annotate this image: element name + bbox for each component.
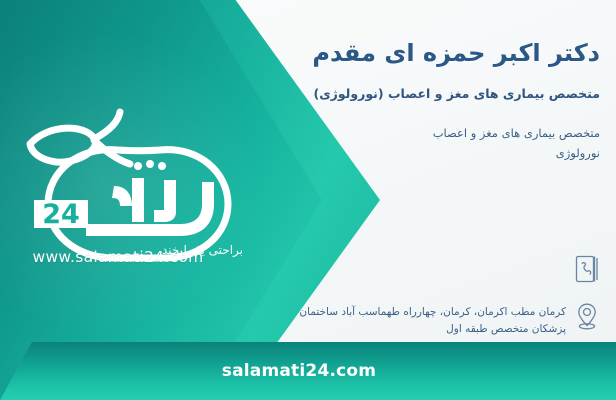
svg-text:24: 24 bbox=[42, 199, 80, 230]
logo-website-url: www.salamati24.com bbox=[28, 248, 208, 266]
footer-bar: salamati24.com bbox=[0, 342, 616, 400]
card-content: دکتر اکبر حمزه ای مقدم متخصص بیماری های … bbox=[196, 0, 600, 400]
doctor-specialty-lines: متخصص بیماری های مغز و اعصاب نورولوژی bbox=[196, 123, 600, 163]
specialty-line-1: متخصص بیماری های مغز و اعصاب bbox=[208, 123, 600, 143]
business-card: 24 براحتی یک لبخند www.salamati24.com دک… bbox=[0, 0, 616, 400]
specialty-line-2: نورولوژی bbox=[208, 143, 600, 163]
doctor-name: دکتر اکبر حمزه ای مقدم bbox=[196, 38, 600, 68]
doctor-specialty-main: متخصص بیماری های مغز و اعصاب (نورولوژی) bbox=[196, 85, 600, 103]
footer-website[interactable]: salamati24.com bbox=[0, 342, 616, 400]
